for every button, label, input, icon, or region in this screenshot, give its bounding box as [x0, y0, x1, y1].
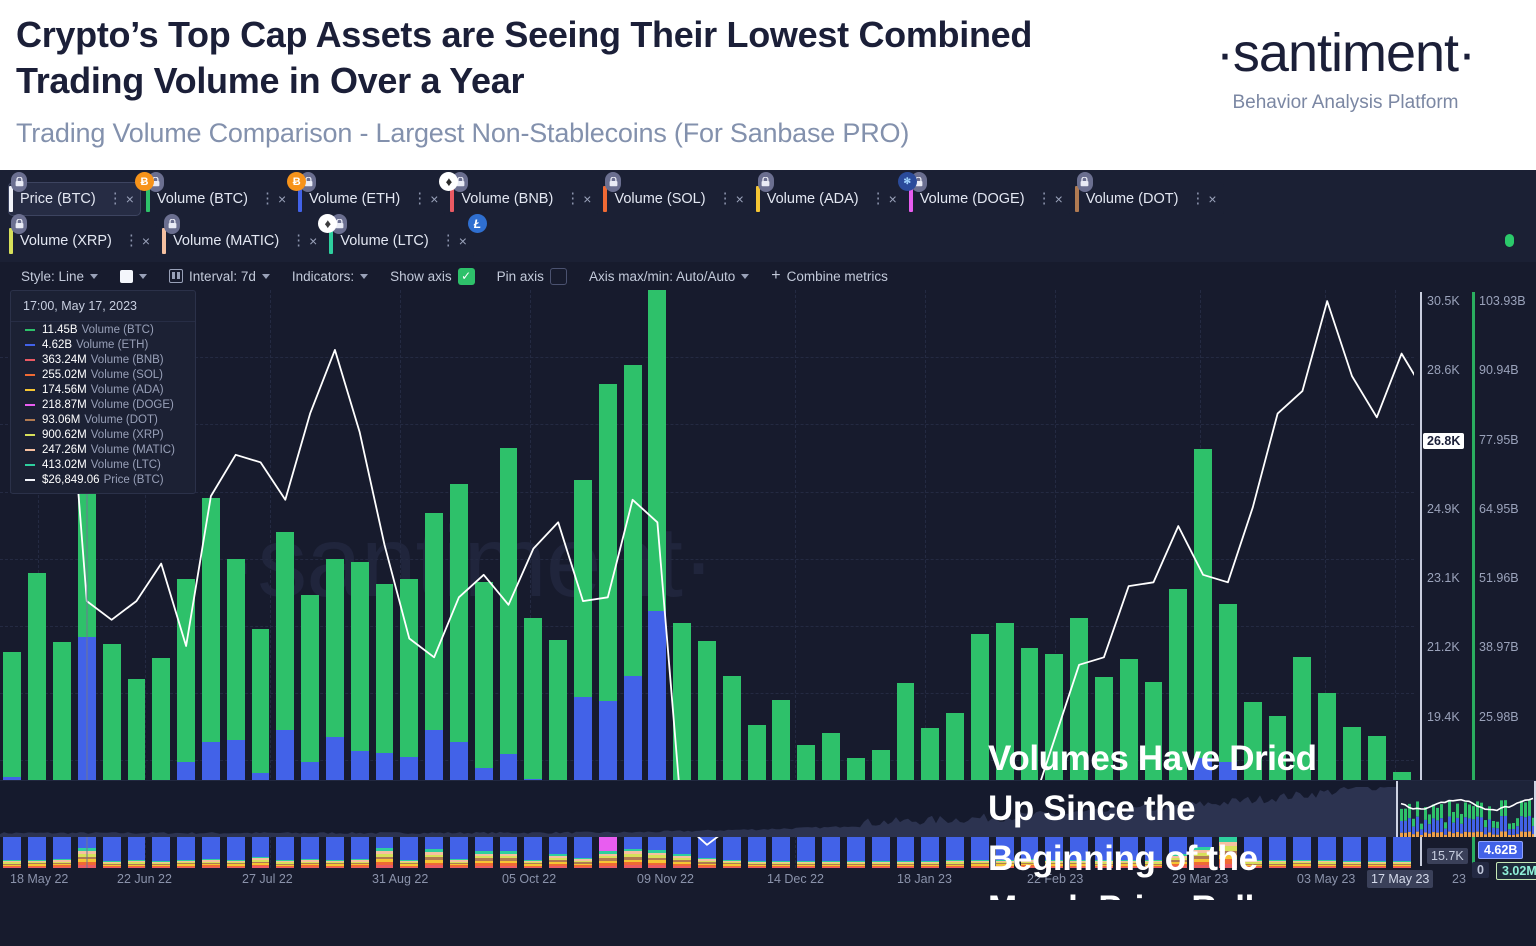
tooltip-row: 255.02MVolume (SOL): [11, 367, 195, 382]
bar-segment-alt: [152, 862, 170, 863]
bar-segment-alt: [78, 854, 96, 857]
bar-segment-alt: [425, 852, 443, 855]
bar-segment-alt: [500, 858, 518, 860]
bar-segment-alt: [897, 865, 915, 866]
table-row[interactable]: [128, 679, 146, 868]
bar-segment-alt: [301, 864, 319, 865]
metric-tab-menu-icon[interactable]: ⋮: [124, 237, 130, 245]
metric-tab-volume-doge[interactable]: ✻Volume (DOGE)⋮×: [908, 182, 1070, 216]
bar-segment-alt: [797, 865, 815, 866]
tooltip-date: 17:00, May 17, 2023: [11, 291, 195, 322]
bar-segment-alt: [475, 863, 493, 865]
bar-segment-alt: [872, 861, 890, 862]
metric-tab-row-1: Price (BTC)⋮×ɃVolume (BTC)⋮×ɃVolume (ETH…: [4, 176, 1532, 218]
color-swatch: [120, 270, 133, 283]
bar-segment-alt: [971, 861, 989, 862]
series-color-dash: [25, 464, 35, 466]
navigator-selection-window[interactable]: [1396, 781, 1536, 837]
bar-segment-alt: [946, 862, 964, 863]
volume-axis-tick: 77.95B: [1479, 433, 1519, 447]
tooltip-rows: 11.45BVolume (BTC)4.62BVolume (ETH)363.2…: [11, 322, 195, 487]
bar-segment-alt: [847, 864, 865, 865]
bar-segment-alt: [227, 862, 245, 863]
metric-tab-label: Volume (BTC): [157, 191, 248, 207]
show-axis-checkbox[interactable]: ✓: [458, 268, 475, 285]
bar-segment-alt: [376, 857, 394, 860]
bar-segment-alt: [574, 859, 592, 860]
tooltip-row: 218.87MVolume (DOGE): [11, 397, 195, 412]
series-value: 174.56M: [42, 384, 87, 396]
bar-segment-alt: [252, 862, 270, 864]
bar-segment-alt: [177, 860, 195, 861]
bar-segment-alt: [400, 861, 418, 862]
metric-tab-volume-dot[interactable]: Volume (DOT)⋮×: [1074, 182, 1224, 216]
metric-tabs: Price (BTC)⋮×ɃVolume (BTC)⋮×ɃVolume (ETH…: [0, 170, 1536, 262]
show-axis-label: Show axis: [390, 269, 452, 284]
bar-segment-alt: [202, 863, 220, 864]
price-axis-tick: 24.9K: [1427, 502, 1460, 516]
bar-segment-alt: [326, 860, 344, 861]
bar-segment-alt: [772, 864, 790, 865]
bar-segment-alt: [425, 857, 443, 860]
lock-icon: [11, 172, 27, 192]
bar-segment-alt: [475, 858, 493, 860]
bar-segment-alt: [549, 862, 567, 864]
page-header: Crypto’s Top Cap Assets are Seeing Their…: [0, 0, 1536, 170]
metric-tab-label: Volume (BNB): [461, 191, 553, 207]
bar-segment-alt: [549, 858, 567, 860]
bar-segment-alt: [648, 855, 666, 858]
bar-segment-alt: [376, 862, 394, 865]
color-selector[interactable]: [109, 270, 158, 283]
metric-tab-menu-icon[interactable]: ⋮: [1190, 195, 1196, 203]
bar-segment-alt: [53, 859, 71, 860]
metric-tab-label: Volume (DOGE): [920, 191, 1025, 207]
metric-tab-label: Volume (LTC): [340, 233, 428, 249]
bar-segment-alt: [822, 861, 840, 862]
bar-segment-alt: [524, 866, 542, 867]
series-value: 413.02M: [42, 459, 87, 471]
bar-segment-alt: [574, 858, 592, 859]
metric-tab-close-icon[interactable]: ×: [142, 233, 150, 249]
bar-segment-alt: [723, 860, 741, 861]
bar-segment-alt: [872, 866, 890, 867]
metric-tab-menu-icon[interactable]: ⋮: [565, 195, 571, 203]
series-color-dash: [25, 329, 35, 331]
series-name: Volume (DOGE): [91, 399, 174, 411]
metric-color-bar: [162, 228, 166, 254]
bar-segment-btc: [400, 579, 418, 757]
metric-tab-menu-icon[interactable]: ⋮: [291, 237, 297, 245]
bar-segment-alt: [549, 864, 567, 866]
bar-segment-alt: [227, 864, 245, 865]
series-name: Volume (XRP): [91, 429, 164, 441]
bar-segment-alt: [202, 860, 220, 861]
bar-segment-alt: [723, 862, 741, 863]
bar-segment-alt: [103, 866, 121, 867]
metric-tab-volume-matic[interactable]: Volume (MATIC)⋮×: [161, 224, 324, 258]
metric-tab-label: Volume (SOL): [614, 191, 705, 207]
volume-axis-tick: 103.93B: [1479, 294, 1526, 308]
bar-segment-alt: [524, 864, 542, 865]
bar-segment-alt: [872, 864, 890, 865]
metric-tab-volume-btc[interactable]: ɃVolume (BTC)⋮×: [145, 182, 293, 216]
metric-tab-label: Volume (MATIC): [173, 233, 279, 249]
bar-segment-btc: [227, 559, 245, 740]
bar-segment-alt: [152, 865, 170, 866]
lock-icon: [758, 172, 774, 192]
bar-segment-alt: [400, 862, 418, 863]
bar-segment-alt: [475, 851, 493, 853]
status-indicator-dot: [1505, 234, 1514, 247]
bar-segment-alt: [177, 863, 195, 864]
brand-logo: ·santiment· Behavior Analysis Platform: [1173, 22, 1518, 114]
metric-tab-close-icon[interactable]: ×: [1208, 191, 1216, 207]
coin-icon-doge: ✻: [898, 172, 917, 191]
x-axis-tick-label: 31 Aug 22: [372, 872, 428, 886]
bar-segment-btc: [475, 582, 493, 768]
pin-axis-label: Pin axis: [497, 269, 544, 284]
bar-segment-alt: [723, 863, 741, 864]
bar-segment-alt: [748, 862, 766, 863]
chart-annotation-text: Volumes Have Dried Up Since the Beginnin…: [988, 734, 1408, 900]
x-axis-tick-label: 14 Dec 22: [767, 872, 824, 886]
bar-segment-alt: [227, 861, 245, 862]
x-axis-tick-label: 22 Jun 22: [117, 872, 172, 886]
bar-segment-btc: [698, 641, 716, 797]
metric-tab-menu-icon[interactable]: ⋮: [871, 195, 877, 203]
bar-segment-btc: [351, 562, 369, 751]
bar-segment-alt: [946, 861, 964, 862]
tooltip-row: 413.02MVolume (LTC): [11, 457, 195, 472]
bar-segment-alt: [78, 848, 96, 851]
metric-tab-price-btc[interactable]: Price (BTC)⋮×: [8, 182, 141, 216]
series-value: 93.06M: [42, 414, 80, 426]
metric-tab-close-icon[interactable]: ×: [309, 233, 317, 249]
tooltip-row: 363.24MVolume (BNB): [11, 352, 195, 367]
bar-segment-alt: [500, 856, 518, 858]
bar-segment-alt: [723, 864, 741, 865]
series-color-dash: [25, 419, 35, 421]
metric-tab-close-icon[interactable]: ×: [126, 191, 134, 207]
bar-segment-alt: [748, 866, 766, 867]
bar-segment-alt: [128, 866, 146, 867]
bar-segment-alt: [624, 857, 642, 860]
bar-segment-alt: [772, 863, 790, 864]
bar-segment-alt: [202, 864, 220, 865]
bar-segment-alt: [847, 861, 865, 862]
axis-maxmin-label: Axis max/min: Auto/Auto: [589, 269, 735, 284]
bar-segment-alt: [450, 863, 468, 864]
page-subtitle: Trading Volume Comparison - Largest Non-…: [16, 118, 1196, 149]
tooltip-row: 93.06MVolume (DOT): [11, 412, 195, 427]
bar-segment-alt: [276, 864, 294, 865]
bar-segment-alt: [450, 864, 468, 865]
bar-segment-alt: [252, 860, 270, 862]
interval-selector[interactable]: Interval: 7d: [158, 269, 281, 284]
bar-segment-alt: [351, 864, 369, 865]
bar-segment-alt: [128, 865, 146, 866]
bar-segment-alt: [326, 861, 344, 862]
annotation-line-1: Volumes Have Dried: [988, 734, 1408, 784]
metric-tab-close-icon[interactable]: ×: [889, 191, 897, 207]
volume-axis-value-badge: 4.62B: [1478, 841, 1523, 859]
combine-metrics-label: Combine metrics: [787, 269, 888, 284]
style-selector[interactable]: Style: Line: [10, 269, 109, 284]
bar-segment-alt: [450, 860, 468, 861]
series-name: Volume (SOL): [91, 369, 163, 381]
bar-segment-alt: [673, 864, 691, 866]
gridline-horizontal: [0, 357, 1414, 358]
bar-segment-alt: [698, 862, 716, 863]
metric-tab-icon[interactable]: Ł: [478, 224, 512, 258]
table-row[interactable]: [897, 683, 915, 868]
bar-segment-alt: [53, 860, 71, 861]
series-color-dash: [25, 344, 35, 346]
metric-tab-label: Price (BTC): [20, 191, 96, 207]
bar-segment-alt: [28, 860, 46, 861]
table-row[interactable]: [723, 676, 741, 868]
bar-segment-alt: [847, 865, 865, 866]
metric-tab-menu-icon[interactable]: ⋮: [441, 237, 447, 245]
volume-axis-tick: 51.96B: [1479, 571, 1519, 585]
bar-segment-alt: [202, 859, 220, 860]
bar-segment-alt: [450, 865, 468, 866]
metric-tab-volume-ltc[interactable]: ♦Volume (LTC)⋮×: [328, 224, 474, 258]
bar-segment-alt: [78, 851, 96, 854]
metric-tab-close-icon[interactable]: ×: [430, 191, 438, 207]
bar-segment-alt: [152, 863, 170, 864]
metric-tab-row-2: Volume (XRP)⋮×Volume (MATIC)⋮×♦Volume (L…: [4, 218, 1532, 260]
chevron-down-icon: [262, 274, 270, 279]
bar-segment-btc: [500, 448, 518, 754]
bar-segment-alt: [822, 865, 840, 866]
bar-segment-alt: [946, 865, 964, 866]
price-axis-tick: 15.7K: [1427, 848, 1468, 864]
series-value: 255.02M: [42, 369, 87, 381]
bar-segment-alt: [673, 854, 691, 856]
bar-segment-alt: [78, 857, 96, 860]
metric-tab-menu-icon[interactable]: ⋮: [412, 195, 418, 203]
price-axis-tick: 19.4K: [1427, 710, 1460, 724]
bar-segment-btc: [971, 634, 989, 793]
show-axis-toggle[interactable]: Show axis ✓: [379, 268, 486, 285]
bar-segment-alt: [326, 866, 344, 867]
bar-segment-alt: [698, 859, 716, 860]
combine-metrics-button[interactable]: + Combine metrics: [760, 267, 899, 285]
bar-segment-alt: [3, 861, 21, 862]
series-name: Volume (BNB): [91, 354, 164, 366]
metric-tab-volume-xrp[interactable]: Volume (XRP)⋮×: [8, 224, 157, 258]
bar-segment-alt: [28, 861, 46, 862]
calendar-icon: [169, 269, 183, 283]
bar-segment-alt: [400, 866, 418, 867]
bar-segment-alt: [128, 861, 146, 862]
bar-segment-btc: [673, 623, 691, 787]
series-name: Volume (DOT): [84, 414, 158, 426]
metric-tab-volume-bnb[interactable]: ♦Volume (BNB)⋮×: [449, 182, 598, 216]
bar-segment-alt: [326, 863, 344, 864]
indicators-selector[interactable]: Indicators:: [281, 269, 379, 284]
bar-segment-alt: [276, 866, 294, 867]
bar-segment-alt: [425, 849, 443, 852]
series-color-dash: [25, 479, 35, 481]
pin-axis-toggle[interactable]: Pin axis: [486, 268, 578, 285]
bar-segment-alt: [301, 859, 319, 860]
tooltip-row: $26,849.06Price (BTC): [11, 472, 195, 487]
bar-segment-alt: [376, 848, 394, 851]
interval-label: Interval: 7d: [189, 269, 256, 284]
bar-segment-alt: [748, 865, 766, 866]
bar-segment-alt: [103, 864, 121, 865]
bar-segment-alt: [648, 850, 666, 853]
bar-segment-alt: [897, 864, 915, 865]
metric-tab-volume-eth[interactable]: ɃVolume (ETH)⋮×: [297, 182, 445, 216]
x-axis-tick-label: 18 Jan 23: [897, 872, 952, 886]
bar-segment-alt: [78, 862, 96, 865]
bar-segment-alt: [847, 863, 865, 864]
tooltip-row: 11.45BVolume (BTC): [11, 322, 195, 337]
price-axis-tick: 23.1K: [1427, 571, 1460, 585]
tooltip-row: 174.56MVolume (ADA): [11, 382, 195, 397]
metric-tab-menu-icon[interactable]: ⋮: [260, 195, 266, 203]
metric-tab-volume-sol[interactable]: Volume (SOL)⋮×: [602, 182, 750, 216]
bar-segment-alt: [28, 866, 46, 867]
bar-segment-alt: [648, 863, 666, 866]
bar-segment-alt: [797, 862, 815, 863]
metric-tab-menu-icon[interactable]: ⋮: [718, 195, 724, 203]
bar-segment-alt: [524, 863, 542, 864]
bar-segment-alt: [624, 854, 642, 857]
x-axis-tick-label: 09 Nov 22: [637, 872, 694, 886]
annotation-line-2: Up Since the: [988, 784, 1408, 834]
bar-segment-alt: [252, 857, 270, 859]
bar-segment-alt: [500, 863, 518, 865]
bar-segment-btc: [326, 559, 344, 737]
series-value: 247.26M: [42, 444, 87, 456]
bar-segment-alt: [897, 861, 915, 862]
metric-tab-label: Volume (DOT): [1086, 191, 1179, 207]
metric-tab-volume-ada[interactable]: Volume (ADA)⋮×: [755, 182, 904, 216]
chevron-down-icon: [360, 274, 368, 279]
metric-tab-close-icon[interactable]: ×: [278, 191, 286, 207]
bar-segment-alt: [128, 864, 146, 865]
bar-segment-alt: [897, 863, 915, 864]
bar-segment-alt: [351, 865, 369, 866]
bar-segment-alt: [3, 860, 21, 861]
bar-segment-alt: [103, 865, 121, 866]
bar-segment-btc: [128, 679, 146, 790]
axis-maxmin-selector[interactable]: Axis max/min: Auto/Auto: [578, 269, 760, 284]
metric-tab-menu-icon[interactable]: ⋮: [108, 195, 114, 203]
bar-segment-btc: [524, 618, 542, 779]
coin-icon-btc: Ƀ: [135, 172, 154, 191]
tooltip-row: 900.62MVolume (XRP): [11, 427, 195, 442]
plus-icon: +: [771, 267, 780, 285]
bar-segment-alt: [921, 861, 939, 862]
bar-segment-alt: [822, 862, 840, 863]
series-name: Volume (ETH): [76, 339, 148, 351]
bar-segment-alt: [574, 861, 592, 862]
bar-segment-alt: [202, 865, 220, 866]
bar-segment-btc: [450, 484, 468, 743]
bar-segment-alt: [177, 864, 195, 865]
series-value: 218.87M: [42, 399, 87, 411]
metric-tab-close-icon[interactable]: ×: [736, 191, 744, 207]
navigator-selection-preview: [1398, 781, 1534, 837]
bar-segment-alt: [524, 862, 542, 863]
gridline-horizontal: [0, 424, 1414, 425]
bar-segment-alt: [475, 856, 493, 858]
bar-segment-alt: [772, 862, 790, 863]
series-color-dash: [25, 449, 35, 451]
x-axis-tick-label: 23: [1452, 872, 1466, 886]
bar-segment-alt: [53, 864, 71, 865]
bar-segment-alt: [648, 860, 666, 863]
price-axis-current-value: 26.8K: [1423, 433, 1464, 449]
bar-segment-alt: [872, 863, 890, 864]
bar-segment-alt: [524, 861, 542, 862]
metric-tab-close-icon[interactable]: ×: [1055, 191, 1063, 207]
bar-segment-alt: [3, 864, 21, 865]
bar-segment-alt: [921, 863, 939, 864]
coin-icon-ltc: Ł: [468, 214, 487, 233]
bar-segment-btc: [574, 480, 592, 697]
tooltip-row: 4.62BVolume (ETH): [11, 337, 195, 352]
bar-segment-btc: [624, 365, 642, 676]
series-name: Volume (BTC): [82, 324, 154, 336]
bar-segment-alt: [624, 851, 642, 854]
bar-segment-btc: [301, 595, 319, 762]
bar-segment-btc: [103, 644, 121, 783]
bar-segment-alt: [400, 860, 418, 861]
bar-segment-alt: [797, 861, 815, 862]
bar-segment-alt: [103, 863, 121, 864]
bar-segment-btc: [177, 579, 195, 763]
bar-segment-alt: [897, 862, 915, 863]
bar-segment-alt: [227, 860, 245, 861]
bar-segment-alt: [822, 864, 840, 865]
price-axis-tick: 28.6K: [1427, 363, 1460, 377]
bar-segment-alt: [500, 854, 518, 856]
bar-segment-alt: [698, 858, 716, 859]
metric-tab-close-icon[interactable]: ×: [459, 233, 467, 249]
bar-segment-alt: [3, 862, 21, 863]
bar-segment-alt: [673, 856, 691, 858]
bar-segment-alt: [822, 863, 840, 864]
metric-tab-close-icon[interactable]: ×: [583, 191, 591, 207]
bar-segment-alt: [376, 851, 394, 854]
bar-segment-alt: [921, 866, 939, 867]
bar-segment-alt: [53, 863, 71, 864]
bar-segment-alt: [971, 863, 989, 864]
series-color-dash: [25, 374, 35, 376]
bar-segment-btc: [53, 642, 71, 784]
pin-axis-checkbox[interactable]: [550, 268, 567, 285]
bar-segment-alt: [3, 865, 21, 866]
bar-segment-alt: [847, 866, 865, 867]
bar-segment-alt: [252, 858, 270, 860]
metric-color-bar: [9, 186, 13, 212]
bar-segment-alt: [599, 861, 617, 863]
bar-segment-alt: [351, 863, 369, 864]
bar-segment-alt: [351, 862, 369, 863]
bar-segment-alt: [500, 851, 518, 853]
bar-segment-alt: [599, 858, 617, 860]
metric-tab-menu-icon[interactable]: ⋮: [1037, 195, 1043, 203]
bar-segment-alt: [252, 865, 270, 867]
bar-segment-alt: [227, 863, 245, 864]
